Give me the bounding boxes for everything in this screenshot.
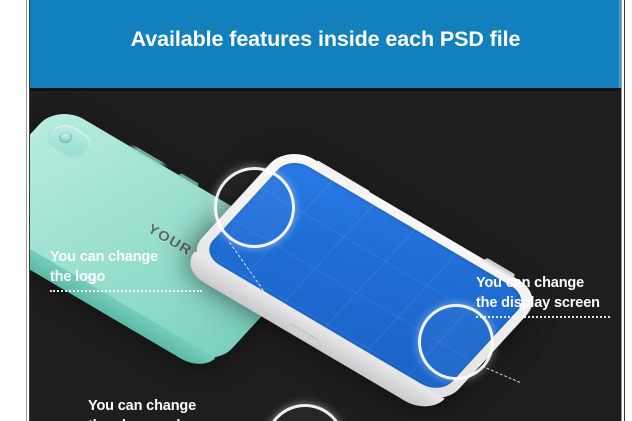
frame-rule-right-inner bbox=[624, 0, 625, 421]
callout-display-screen-underline bbox=[476, 316, 610, 318]
callout-logo-text: You can change the logo bbox=[50, 249, 158, 284]
camera-lens-icon bbox=[56, 130, 75, 145]
callout-display-screen: You can change the display screen bbox=[476, 255, 632, 337]
callout-display-screen-text: You can change the display screen bbox=[476, 275, 600, 310]
logo-highlight-circle bbox=[214, 167, 295, 248]
callout-phone-color-text: You can change the phone color bbox=[88, 398, 196, 421]
camera-bump bbox=[44, 120, 96, 160]
header-banner: Available features inside each PSD file bbox=[30, 0, 621, 88]
frame-rule-right bbox=[621, 0, 622, 421]
callout-logo: You can change the logo bbox=[50, 229, 210, 311]
callout-logo-underline bbox=[50, 290, 202, 292]
callout-phone-color: You can change the phone color bbox=[88, 378, 248, 421]
color-highlight-circle bbox=[265, 404, 345, 421]
volume-buttons bbox=[127, 143, 168, 169]
frame-rule-left bbox=[26, 0, 27, 421]
power-button bbox=[177, 173, 199, 188]
screen-leader-line bbox=[478, 364, 521, 383]
page-title: Available features inside each PSD file bbox=[30, 27, 621, 52]
mockup-feature-slide: Available features inside each PSD file … bbox=[0, 0, 632, 421]
